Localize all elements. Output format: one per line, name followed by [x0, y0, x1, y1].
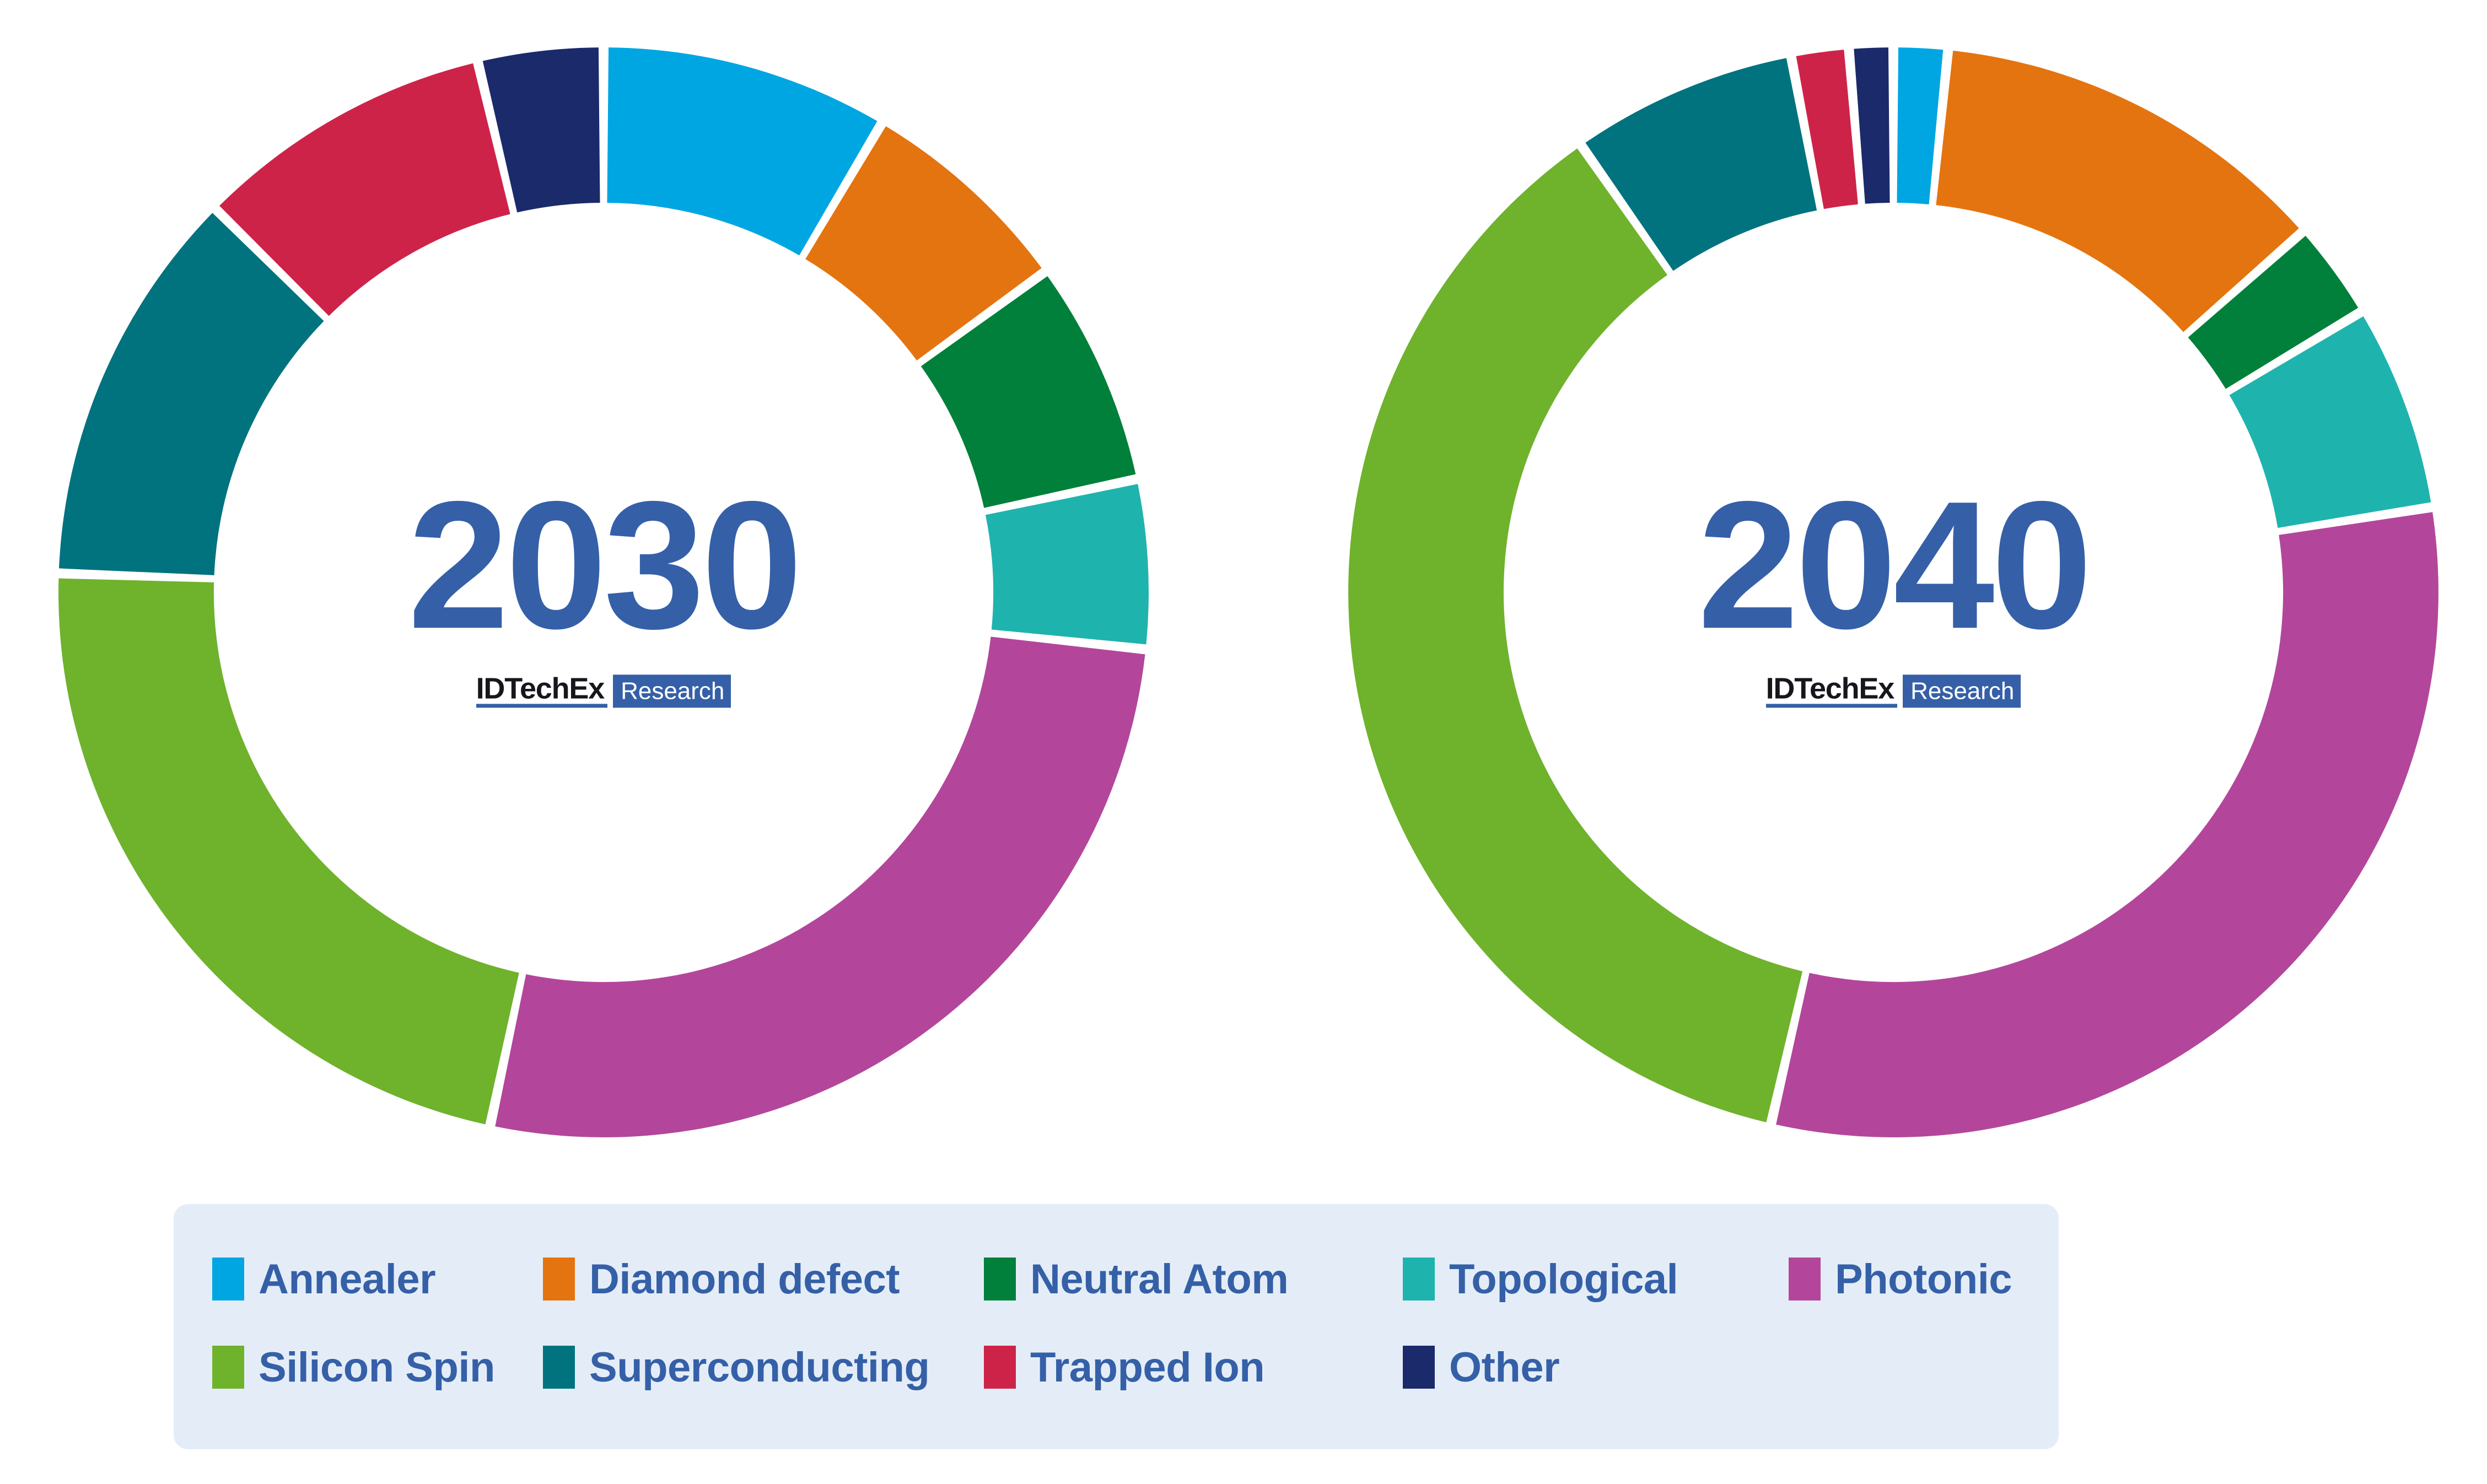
legend-item-topological[interactable]: Topological [1403, 1235, 1789, 1323]
legend-swatch-icon [984, 1258, 1016, 1300]
donut-slice-topological[interactable] [986, 484, 1149, 644]
donut-slice-silicon-spin[interactable] [1348, 148, 1802, 1122]
legend-item-silicon-spin[interactable]: Silicon Spin [212, 1323, 543, 1411]
legend-item-superconducting[interactable]: Superconducting [543, 1323, 984, 1411]
legend-item-trapped-ion[interactable]: Trapped Ion [984, 1323, 1403, 1411]
legend-swatch-icon [543, 1258, 575, 1300]
legend-label: Silicon Spin [259, 1343, 495, 1391]
legend-swatch-icon [984, 1346, 1016, 1389]
donut-slice-photonic[interactable] [1776, 512, 2438, 1137]
legend-label: Superconducting [589, 1343, 929, 1391]
legend-label: Diamond defect [589, 1255, 900, 1303]
donut-slice-other[interactable] [1854, 47, 1890, 204]
legend-swatch-icon [212, 1346, 244, 1389]
legend-label: Topological [1449, 1255, 1678, 1303]
legend-label: Neutral Atom [1030, 1255, 1288, 1303]
legend-row: Silicon SpinSuperconductingTrapped IonOt… [174, 1323, 2059, 1411]
donut-chart-2040: 2040 IDTechEx Research [1339, 39, 2447, 1146]
legend-item-neutral-atom[interactable]: Neutral Atom [984, 1235, 1403, 1323]
legend-row: AnnealerDiamond defectNeutral AtomTopolo… [174, 1235, 2059, 1323]
donut-slice-silicon-spin[interactable] [58, 579, 519, 1125]
legend-label: Trapped Ion [1030, 1343, 1264, 1391]
legend-item-other[interactable]: Other [1403, 1323, 1559, 1411]
chart-legend: AnnealerDiamond defectNeutral AtomTopolo… [174, 1204, 2059, 1449]
legend-item-annealer[interactable]: Annealer [212, 1235, 543, 1323]
donut-svg-2030 [50, 39, 1158, 1146]
legend-swatch-icon [543, 1346, 575, 1389]
donut-slice-photonic[interactable] [495, 636, 1145, 1137]
figure-root: 2030 IDTechEx Research 2040 IDTechEx Res… [0, 0, 2487, 1484]
legend-swatch-icon [1403, 1346, 1435, 1389]
donut-svg-2040 [1339, 39, 2447, 1146]
legend-label: Photonic [1835, 1255, 2012, 1303]
donut-slice-annealer[interactable] [1897, 47, 1943, 204]
legend-item-photonic[interactable]: Photonic [1789, 1235, 2012, 1323]
legend-label: Other [1449, 1343, 1559, 1391]
donut-chart-2030: 2030 IDTechEx Research [50, 39, 1158, 1146]
legend-swatch-icon [1789, 1258, 1821, 1300]
legend-swatch-icon [1403, 1258, 1435, 1300]
legend-item-diamond-defect[interactable]: Diamond defect [543, 1235, 984, 1323]
legend-swatch-icon [212, 1258, 244, 1300]
legend-label: Annealer [259, 1255, 435, 1303]
